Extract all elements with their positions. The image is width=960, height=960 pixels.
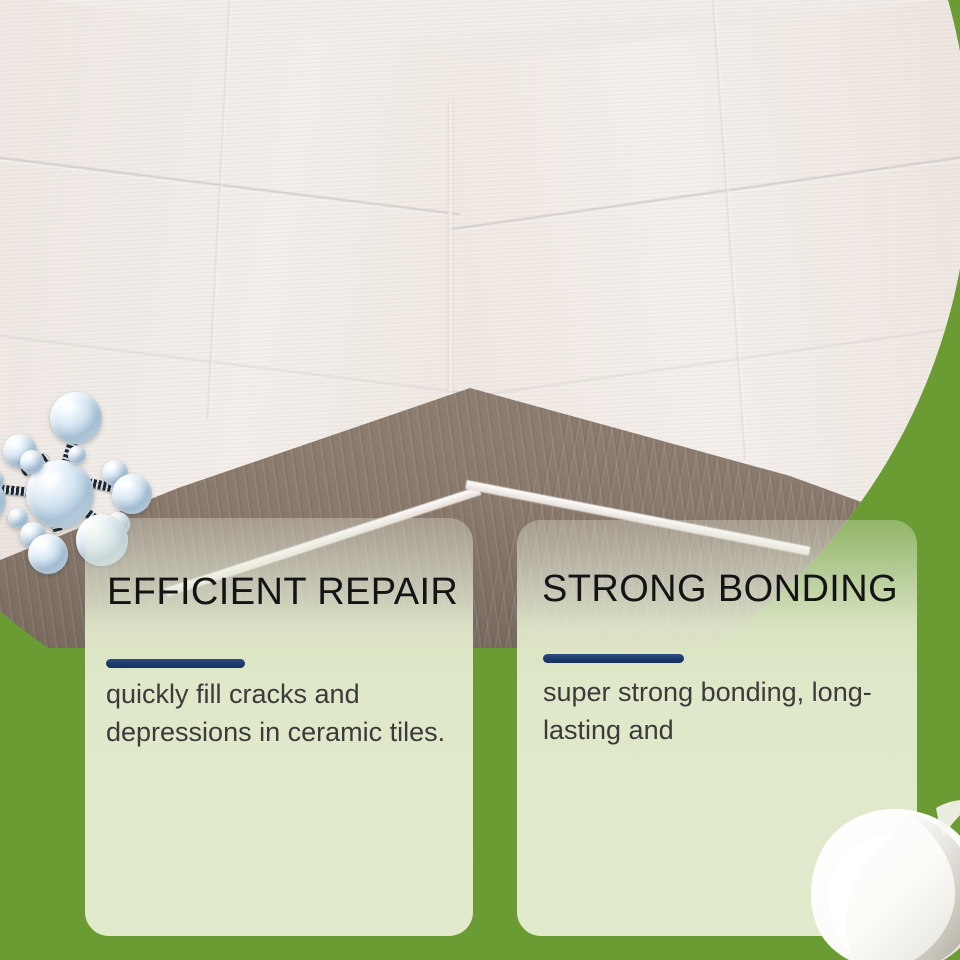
card-title: EFFICIENT REPAIR bbox=[107, 571, 458, 614]
molecule-atom bbox=[20, 450, 44, 474]
card-description: quickly fill cracks and depressions in c… bbox=[106, 675, 456, 751]
molecule-atom-lower bbox=[28, 534, 68, 574]
molecule-atom-top bbox=[50, 392, 102, 444]
molecule-atom bbox=[68, 446, 86, 464]
feature-card-efficient-repair[interactable]: EFFICIENT REPAIR quickly fill cracks and… bbox=[85, 518, 473, 936]
card-title: STRONG BONDING bbox=[542, 568, 898, 611]
white-cream-swirl bbox=[786, 782, 960, 960]
card-description: super strong bonding, long-lasting and bbox=[543, 673, 883, 749]
product-feature-graphic: EFFICIENT REPAIR quickly fill cracks and… bbox=[0, 0, 960, 960]
molecule-atom-right bbox=[112, 474, 152, 514]
card-accent-rule bbox=[106, 659, 245, 668]
card-content: EFFICIENT REPAIR quickly fill cracks and… bbox=[85, 518, 473, 936]
card-accent-rule bbox=[543, 654, 684, 663]
